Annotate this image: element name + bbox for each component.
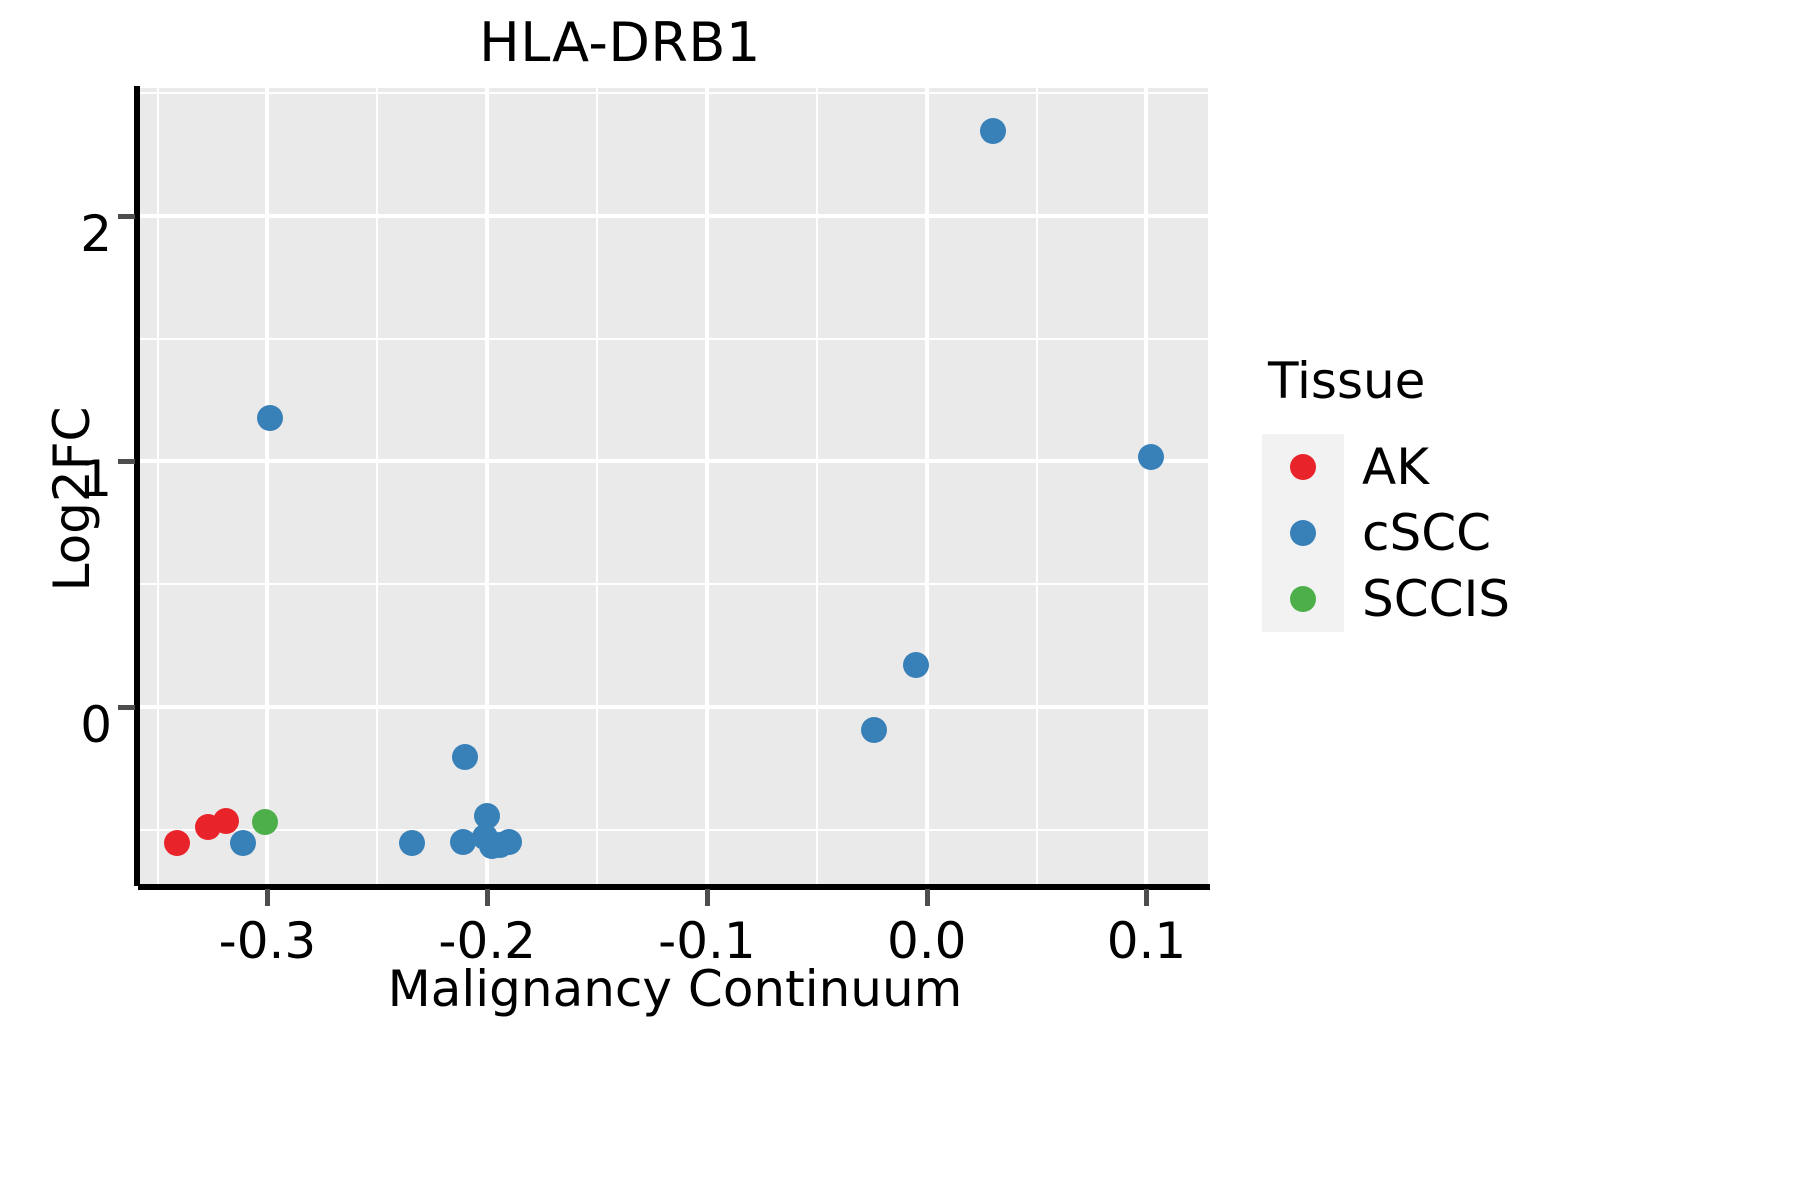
x-tick-label: -0.1: [587, 912, 827, 970]
legend-item-label: AK: [1362, 442, 1429, 492]
gridline-vertical-major: [265, 88, 269, 884]
x-tick-mark: [705, 889, 710, 906]
x-tick-label: -0.2: [367, 912, 607, 970]
y-tick-mark: [118, 705, 135, 710]
x-tick-mark: [925, 889, 930, 906]
legend-item-label: cSCC: [1362, 508, 1491, 558]
data-point: [903, 652, 929, 678]
data-point: [213, 808, 239, 834]
gridline-vertical-minor: [596, 88, 598, 884]
gridline-horizontal-minor: [140, 583, 1208, 585]
x-axis-spine: [138, 884, 1210, 890]
data-point: [861, 717, 887, 743]
gridline-vertical-major: [705, 88, 709, 884]
gridline-horizontal-minor: [140, 92, 1208, 94]
x-tick-mark: [265, 889, 270, 906]
legend-item-ak[interactable]: AK: [1262, 434, 1782, 500]
x-tick-label: -0.3: [147, 912, 387, 970]
gridline-vertical-minor: [1036, 88, 1038, 884]
x-tick-mark: [485, 889, 490, 906]
legend-item-cscc[interactable]: cSCC: [1262, 500, 1782, 566]
y-tick-mark: [118, 214, 135, 219]
scatter-plot-figure: HLA-DRB1 Log2FC Malignancy Continuum 012…: [0, 0, 1800, 1200]
gridline-vertical-minor: [816, 88, 818, 884]
data-point: [399, 830, 425, 856]
data-point: [980, 118, 1006, 144]
legend-title: Tissue: [1268, 352, 1782, 410]
data-point: [257, 405, 283, 431]
x-tick-label: 0.1: [1026, 912, 1266, 970]
legend-item-sccis[interactable]: SCCIS: [1262, 566, 1782, 632]
data-point: [452, 744, 478, 770]
gridline-vertical-major: [1144, 88, 1148, 884]
legend-key-swatch: [1262, 500, 1344, 566]
gridline-vertical-minor: [157, 88, 159, 884]
gridline-horizontal-major: [140, 705, 1208, 709]
gridline-vertical-major: [925, 88, 929, 884]
legend-key-swatch: [1262, 566, 1344, 632]
legend-dot-icon: [1290, 520, 1316, 546]
legend-key-swatch: [1262, 434, 1344, 500]
data-point: [164, 830, 190, 856]
gridline-vertical-minor: [376, 88, 378, 884]
gridline-horizontal-major: [140, 459, 1208, 463]
plot-panel: [140, 88, 1208, 884]
y-tick-mark: [118, 459, 135, 464]
legend-item-label: SCCIS: [1362, 574, 1510, 624]
data-point: [230, 830, 256, 856]
data-point: [1138, 444, 1164, 470]
data-point: [252, 809, 278, 835]
y-axis-spine: [134, 86, 140, 886]
legend-dot-icon: [1290, 586, 1316, 612]
gridline-vertical-major: [485, 88, 489, 884]
gridline-horizontal-major: [140, 214, 1208, 218]
legend: Tissue AKcSCCSCCIS: [1262, 352, 1782, 632]
legend-dot-icon: [1290, 454, 1316, 480]
legend-items: AKcSCCSCCIS: [1262, 434, 1782, 632]
gridline-horizontal-minor: [140, 829, 1208, 831]
data-point: [496, 829, 522, 855]
gridline-horizontal-minor: [140, 338, 1208, 340]
page-title: HLA-DRB1: [0, 8, 1240, 78]
x-tick-label: 0.0: [807, 912, 1047, 970]
x-tick-mark: [1144, 889, 1149, 906]
